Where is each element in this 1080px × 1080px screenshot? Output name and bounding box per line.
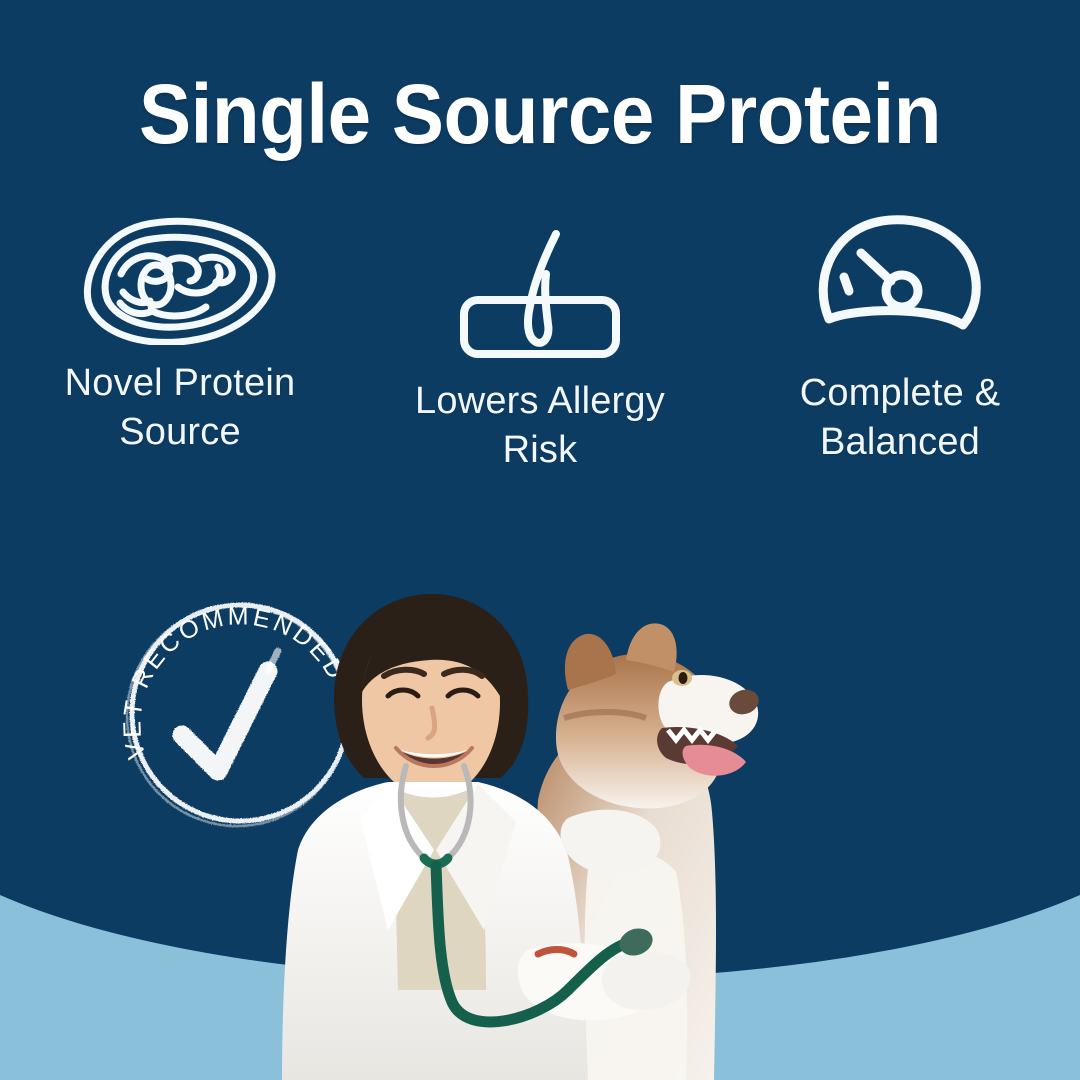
feature-label: Lowers Allergy Risk: [415, 377, 665, 474]
feature-label: Complete & Balanced: [800, 369, 1001, 466]
feature-label-line2: Risk: [503, 429, 578, 471]
feature-label-line1: Complete &: [800, 372, 1001, 414]
page-title: Single Source Protein: [38, 72, 1042, 156]
feature-label-line2: Balanced: [820, 421, 980, 463]
feature-row: Novel Protein Source Lowers Allergy Risk: [0, 195, 1080, 474]
steak-icon: [80, 195, 280, 345]
hair-follicle-icon: [460, 195, 620, 373]
feature-complete-and-balanced: Complete & Balanced: [720, 195, 1080, 474]
feature-label-line1: Novel Protein: [65, 362, 296, 404]
poster-canvas: Single Source Protein Novel Protein: [0, 0, 1080, 1080]
feature-label: Novel Protein Source: [65, 359, 296, 456]
feature-novel-protein-source: Novel Protein Source: [0, 195, 360, 474]
feature-lowers-allergy-risk: Lowers Allergy Risk: [360, 195, 720, 474]
veterinarian-with-husky-photo: [238, 550, 798, 1080]
gauge-icon: [815, 195, 985, 347]
feature-label-line1: Lowers Allergy: [415, 380, 665, 422]
feature-label-line2: Source: [119, 411, 241, 453]
